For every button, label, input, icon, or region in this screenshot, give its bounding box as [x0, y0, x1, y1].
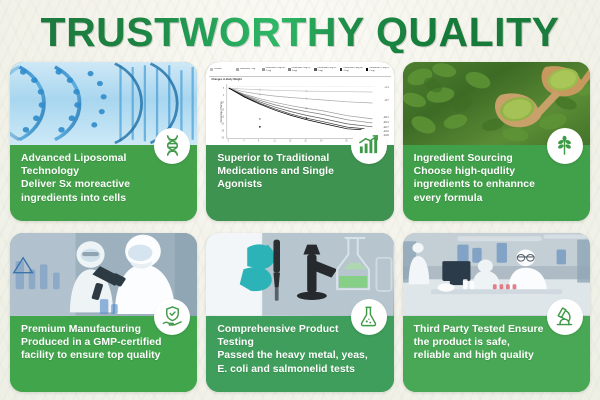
- feature-card-grid: Advanced Liposomal Technology Deliver Sx…: [10, 62, 590, 392]
- card-text-panel: Advanced Liposomal Technology Deliver Sx…: [10, 145, 197, 221]
- legend-swatch: [262, 68, 265, 71]
- endpoint-label: -2.1: [385, 86, 389, 89]
- feature-card-superior-to-traditional-medications[interactable]: Placebo Retatrutide 1 mg Retatrutide 4 m…: [206, 62, 393, 221]
- card-line: Ingredient Sourcing: [414, 152, 551, 165]
- card-line: Testing: [217, 336, 354, 349]
- legend-item: Retatrutide 4 mg (BD 2 mg): [262, 67, 286, 72]
- legend-swatch: [366, 68, 369, 71]
- svg-text:0: 0: [228, 141, 230, 143]
- card-line: Choose high-qudlity: [414, 165, 551, 178]
- legend-item: Retatrutide 12 mg (ID 2 mg): [366, 67, 390, 72]
- erlenmeyer-flask-icon: [351, 299, 387, 335]
- svg-text:5: 5: [223, 88, 225, 90]
- card-line: Agonists: [217, 178, 354, 191]
- legend-item: Retatrutide 8 mg (ID 2 mg): [314, 67, 338, 72]
- feature-card-ingredient-sourcing[interactable]: Ingredient Sourcing Choose high-qudlity …: [403, 62, 590, 221]
- svg-text:12: 12: [274, 141, 277, 143]
- svg-text:0: 0: [223, 95, 225, 97]
- svg-text:8: 8: [258, 141, 260, 143]
- chart-plot-area: Percentage Change: [221, 82, 376, 143]
- card-line: Premium Manufacturing: [21, 323, 158, 336]
- legend-item: Retatrutide 1 mg: [236, 68, 260, 71]
- card-line: Advanced Liposomal: [21, 152, 158, 165]
- card-line: every formula: [414, 192, 551, 205]
- card-line: facility to ensure top quality: [21, 349, 158, 362]
- feature-card-comprehensive-product-testing[interactable]: Comprehensive Product Testing Passed the…: [206, 233, 393, 392]
- card-line: Technology: [21, 165, 158, 178]
- card-text-panel: Superior to Traditional Medications and …: [206, 145, 393, 221]
- svg-text:20: 20: [305, 141, 308, 143]
- card-line: reliable and high quality: [414, 349, 551, 362]
- legend-swatch: [288, 68, 291, 71]
- legend-item: Retatrutide 4 mg (ID 4 mg): [288, 67, 312, 72]
- card-line: Medications and Single: [217, 165, 354, 178]
- svg-text:16: 16: [289, 141, 292, 143]
- card-line: ingredients to enhannce: [414, 178, 551, 191]
- card-line: Comprehensive Product: [217, 323, 354, 336]
- endpoint-label: -18.1: [383, 116, 388, 119]
- card-text: Comprehensive Product Testing Passed the…: [217, 323, 354, 377]
- legend-swatch: [314, 68, 317, 71]
- chart-title: Changes in Body Weight: [209, 77, 390, 81]
- chart-legend: Placebo Retatrutide 1 mg Retatrutide 4 m…: [209, 64, 390, 77]
- svg-text:-30: -30: [221, 138, 225, 140]
- card-line: Passed the heavy metal, yeas,: [217, 349, 354, 362]
- feature-card-premium-manufacturing[interactable]: Premium Manufacturing Produced in a GMP-…: [10, 233, 197, 392]
- endpoint-label: -22.7: [383, 126, 388, 129]
- card-text: Premium Manufacturing Produced in a GMP-…: [21, 323, 158, 363]
- page-title-container: TRUSTWORTHY QUALITY: [0, 6, 600, 58]
- card-text: Advanced Liposomal Technology Deliver Sx…: [21, 152, 158, 206]
- dna-icon: [154, 128, 190, 164]
- card-line: Superior to Traditional: [217, 152, 354, 165]
- svg-text:-25: -25: [221, 131, 225, 133]
- feature-card-advanced-liposomal-technology[interactable]: Advanced Liposomal Technology Deliver Sx…: [10, 62, 197, 221]
- card-line: E. coli and salmonelid tests: [217, 363, 354, 376]
- endpoint-label: -24.2: [383, 130, 388, 133]
- legend-item: Placebo: [210, 68, 234, 71]
- svg-text:-5: -5: [222, 102, 225, 104]
- svg-text:-20: -20: [221, 123, 225, 125]
- endpoint-label: -8.7: [385, 99, 389, 102]
- card-text: Third Party Tested Ensure the product is…: [414, 323, 551, 363]
- legend-swatch: [236, 68, 239, 71]
- legend-swatch: [210, 68, 213, 71]
- svg-text:-15: -15: [221, 116, 225, 118]
- svg-text:-10: -10: [221, 109, 225, 111]
- svg-text:4: 4: [244, 141, 246, 143]
- poster-root: TRUSTWORTHY QUALITY: [0, 0, 600, 400]
- leaf-sprig-icon: [547, 128, 583, 164]
- card-text-panel: Comprehensive Product Testing Passed the…: [206, 316, 393, 392]
- card-line: Third Party Tested Ensure: [414, 323, 551, 336]
- legend-swatch: [340, 68, 343, 71]
- page-title: TRUSTWORTHY QUALITY: [41, 12, 560, 53]
- card-line: the product is safe,: [414, 336, 551, 349]
- card-text-panel: Third Party Tested Ensure the product is…: [403, 316, 590, 392]
- microscope-icon: [547, 299, 583, 335]
- card-text-panel: Premium Manufacturing Produced in a GMP-…: [10, 316, 197, 392]
- svg-text:24: 24: [320, 141, 323, 143]
- card-line: Produced in a GMP-certified: [21, 336, 158, 349]
- svg-text:36: 36: [346, 141, 349, 143]
- endpoint-label: -20.4: [383, 121, 388, 124]
- bar-chart-growth-icon: [351, 128, 387, 164]
- card-text: Ingredient Sourcing Choose high-qudlity …: [414, 152, 551, 206]
- card-text-panel: Ingredient Sourcing Choose high-qudlity …: [403, 145, 590, 221]
- card-text: Superior to Traditional Medications and …: [217, 152, 354, 192]
- card-line: Deliver Sx moreactive: [21, 178, 158, 191]
- legend-item: Retatrutide 8 mg (BD 4 mg): [340, 67, 364, 72]
- feature-card-third-party-tested[interactable]: Third Party Tested Ensure the product is…: [403, 233, 590, 392]
- hand-holding-check-shield-icon: [154, 299, 190, 335]
- card-line: ingredients into cells: [21, 192, 158, 205]
